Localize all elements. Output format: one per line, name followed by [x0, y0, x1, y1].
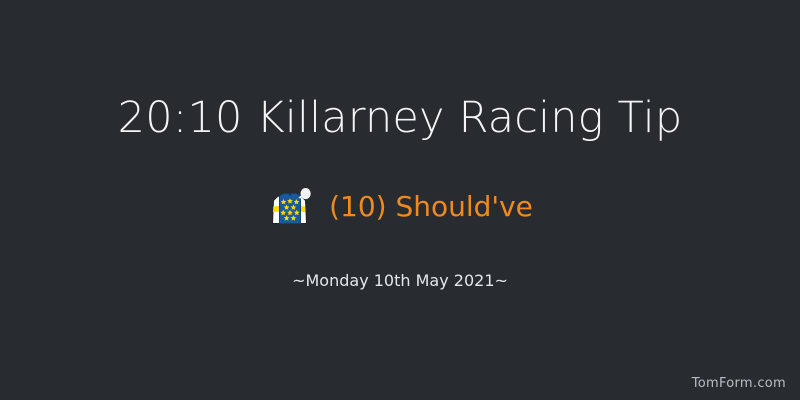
race-date: ~Monday 10th May 2021~ — [0, 270, 800, 292]
selection-row: (10) Should've — [0, 183, 800, 231]
racing-tip-card: 20:10 Killarney Racing Tip — [0, 0, 800, 400]
page-title: 20:10 Killarney Racing Tip — [0, 92, 800, 144]
horse-selection-label: (10) Should've — [329, 190, 533, 224]
jockey-silks-icon — [267, 183, 315, 231]
site-watermark: TomForm.com — [692, 375, 786, 392]
